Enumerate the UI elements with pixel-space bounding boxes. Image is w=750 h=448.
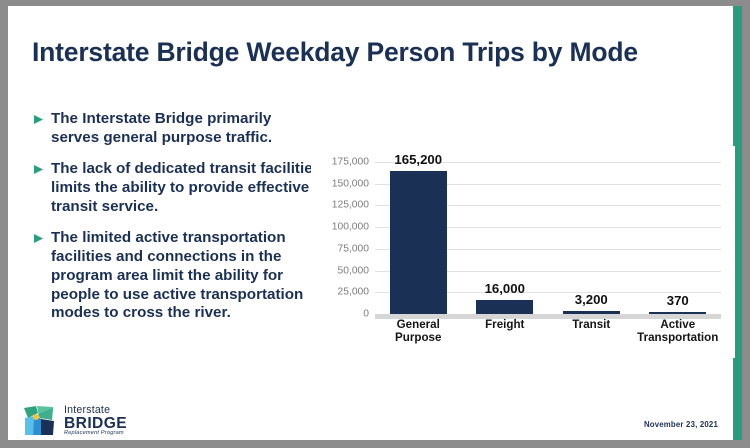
y-axis-tick-label: 100,000 <box>307 222 369 233</box>
logo-line-interstate: Interstate <box>64 405 127 416</box>
slide-frame: Interstate Bridge Weekday Person Trips b… <box>0 0 750 448</box>
list-item: The Interstate Bridge primarily serves g… <box>34 110 322 147</box>
x-axis-label: Freight <box>462 318 549 344</box>
bar-slot: 16,000 <box>462 162 549 314</box>
bar-slot: 370 <box>635 162 722 314</box>
interstate-bridge-logo-icon <box>22 404 58 438</box>
logo-line-bridge: BRIDGE <box>64 416 127 432</box>
triangle-bullet-icon <box>34 165 43 174</box>
y-axis-tick-label: 150,000 <box>307 178 369 189</box>
list-item: The lack of dedicated transit facilities… <box>34 160 322 216</box>
bar[interactable] <box>390 171 447 314</box>
y-axis-tick-label: 75,000 <box>307 243 369 254</box>
bullet-text: The Interstate Bridge primarily serves g… <box>51 110 322 147</box>
plot-area: 025,00050,00075,000100,000125,000150,000… <box>375 162 721 314</box>
triangle-bullet-icon <box>34 234 43 243</box>
x-axis-label: Active Transportation <box>635 318 722 344</box>
bar-value-label: 370 <box>667 293 689 308</box>
page-title: Interstate Bridge Weekday Person Trips b… <box>32 38 722 68</box>
bar-slot: 165,200 <box>375 162 462 314</box>
bar-value-label: 3,200 <box>575 292 608 307</box>
bar[interactable] <box>476 300 533 314</box>
list-item: The limited active transportation facili… <box>34 229 322 322</box>
bar-value-label: 165,200 <box>394 152 442 167</box>
logo-line-program: Replacement Program <box>64 431 127 437</box>
y-axis-tick-label: 175,000 <box>307 157 369 168</box>
y-axis-tick-label: 125,000 <box>307 200 369 211</box>
bullet-text: The lack of dedicated transit facilities… <box>51 160 322 216</box>
bar-slot: 3,200 <box>548 162 635 314</box>
date-stamp: November 23, 2021 <box>644 420 718 429</box>
y-axis-tick-label: 0 <box>307 309 369 320</box>
bullet-text: The limited active transportation facili… <box>51 229 322 322</box>
x-axis-label: General Purpose <box>375 318 462 344</box>
x-axis-labels: General PurposeFreightTransitActive Tran… <box>375 318 721 344</box>
bar-value-label: 16,000 <box>485 281 525 296</box>
logo-text: Interstate BRIDGE Replacement Program <box>64 405 127 437</box>
bar-series: 165,20016,0003,200370 <box>375 162 721 314</box>
triangle-bullet-icon <box>34 115 43 124</box>
y-axis-tick-label: 50,000 <box>307 265 369 276</box>
x-axis-label: Transit <box>548 318 635 344</box>
bullet-list: The Interstate Bridge primarily serves g… <box>34 110 322 336</box>
presentation-slide: Interstate Bridge Weekday Person Trips b… <box>8 6 742 440</box>
y-axis-tick-label: 25,000 <box>307 287 369 298</box>
bar-chart: 025,00050,00075,000100,000125,000150,000… <box>311 146 735 358</box>
logo: Interstate BRIDGE Replacement Program <box>22 404 127 438</box>
